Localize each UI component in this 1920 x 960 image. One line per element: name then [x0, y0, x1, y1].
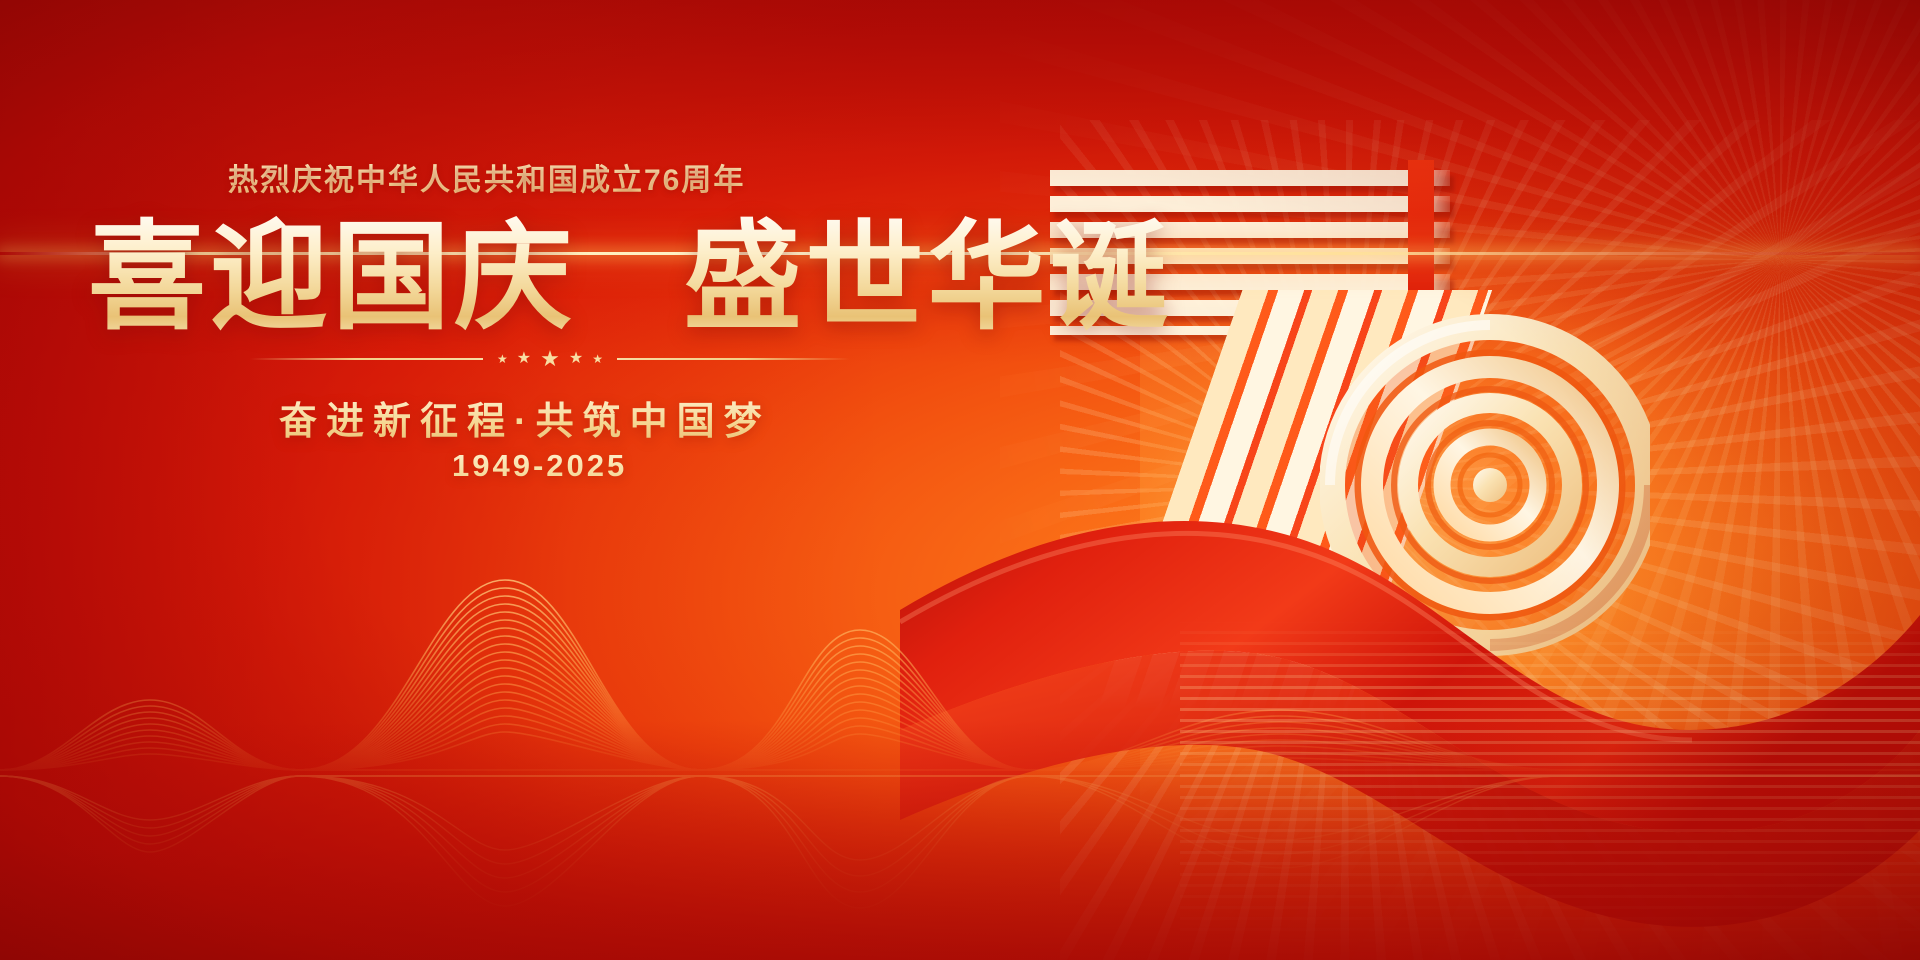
divider-stars: ★ ★ ★ ★ ★	[497, 348, 603, 370]
star-icon: ★	[517, 351, 531, 367]
headline-copy-block: 热烈庆祝中华人民共和国成立76周年 喜迎国庆 盛世华诞 ★ ★ ★ ★ ★ 奋进…	[0, 0, 1020, 700]
headline-left-phrase: 喜迎国庆	[88, 212, 576, 344]
star-icon: ★	[569, 351, 583, 367]
anniversary-eyebrow-text: 热烈庆祝中华人民共和国成立76周年	[228, 155, 745, 199]
star-icon: ★	[497, 353, 508, 365]
divider-rule-left	[250, 358, 483, 360]
national-day-banner: 热烈庆祝中华人民共和国成立76周年 喜迎国庆 盛世华诞 ★ ★ ★ ★ ★ 奋进…	[0, 0, 1920, 960]
year-range-text: 1949-2025	[452, 448, 627, 484]
divider-rule-right	[617, 358, 850, 360]
star-divider: ★ ★ ★ ★ ★	[250, 348, 850, 370]
star-icon: ★	[592, 353, 603, 365]
headline-right-phrase: 盛世华诞	[684, 212, 1172, 344]
tagline-text: 奋进新征程·共筑中国梦	[279, 390, 771, 445]
star-icon: ★	[540, 348, 560, 370]
main-headline: 喜迎国庆 盛世华诞	[88, 215, 1172, 342]
